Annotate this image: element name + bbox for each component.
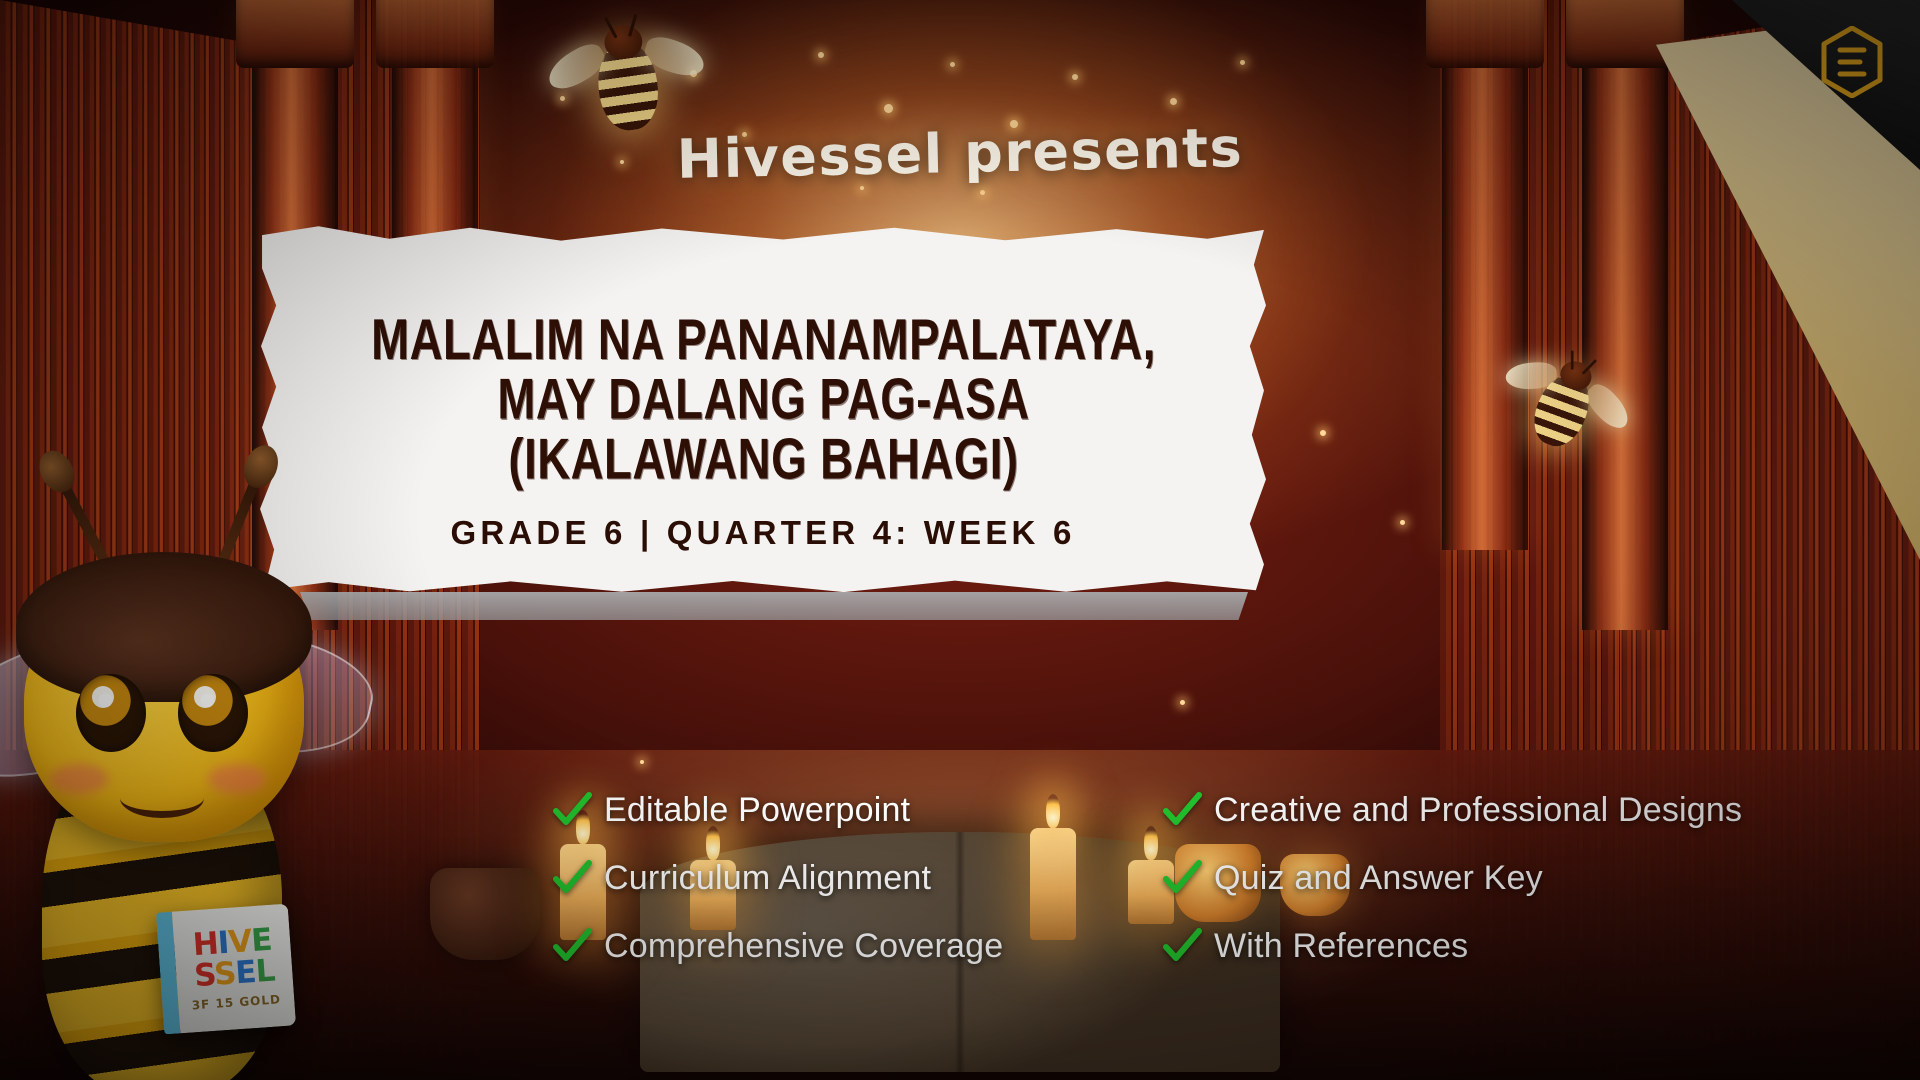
- check-icon: [1162, 790, 1202, 830]
- check-icon: [552, 926, 592, 966]
- page-title: MALALIM NA PANANAMPALATAYA, MAY DALANG P…: [371, 310, 1156, 489]
- book-letter: S: [213, 955, 237, 992]
- list-item-label: Editable Powerpoint: [604, 791, 910, 830]
- list-item: Creative and Professional Designs: [1162, 790, 1912, 830]
- mascot-hair: [16, 552, 312, 702]
- mascot-book-subtext: 3F 15 GOLD: [191, 992, 281, 1012]
- slide-canvas: Hivessel presents MALALIM NA PANANAMPALA…: [0, 0, 1920, 1080]
- check-icon: [552, 790, 592, 830]
- bee-mascot: HIVE SSEL 3F 15 GOLD: [0, 456, 434, 1080]
- clay-pot-prop: [430, 868, 540, 960]
- mascot-smile: [120, 778, 204, 818]
- mascot-blush-right: [208, 764, 266, 794]
- bee-top-center: [594, 39, 662, 133]
- check-icon: [552, 858, 592, 898]
- list-item: With References: [1162, 926, 1912, 966]
- list-item: Curriculum Alignment: [552, 858, 1152, 898]
- mascot-book-line2: SSEL: [193, 956, 275, 993]
- check-icon: [1162, 858, 1202, 898]
- list-item-label: Creative and Professional Designs: [1214, 791, 1742, 830]
- list-item-label: Curriculum Alignment: [604, 859, 931, 898]
- pillar-right-outer: [1582, 0, 1668, 630]
- list-item: Comprehensive Coverage: [552, 926, 1152, 966]
- mascot-blush-left: [50, 764, 108, 794]
- book-letter: L: [254, 953, 275, 990]
- book-letter: S: [193, 957, 215, 994]
- list-item: Editable Powerpoint: [552, 790, 1152, 830]
- check-icon: [1162, 926, 1202, 966]
- list-item-label: Quiz and Answer Key: [1214, 859, 1543, 898]
- mascot-eye-left: [76, 674, 146, 752]
- list-item-label: Comprehensive Coverage: [604, 927, 1003, 966]
- feature-checklist: Editable Powerpoint Creative and Profess…: [552, 790, 1912, 966]
- list-item-label: With References: [1214, 927, 1468, 966]
- hexagon-logo-icon[interactable]: [1820, 26, 1884, 98]
- mascot-book: HIVE SSEL 3F 15 GOLD: [156, 904, 296, 1035]
- title-card-shadow: [300, 592, 1248, 620]
- mascot-eye-right: [178, 674, 248, 752]
- list-item: Quiz and Answer Key: [1162, 858, 1912, 898]
